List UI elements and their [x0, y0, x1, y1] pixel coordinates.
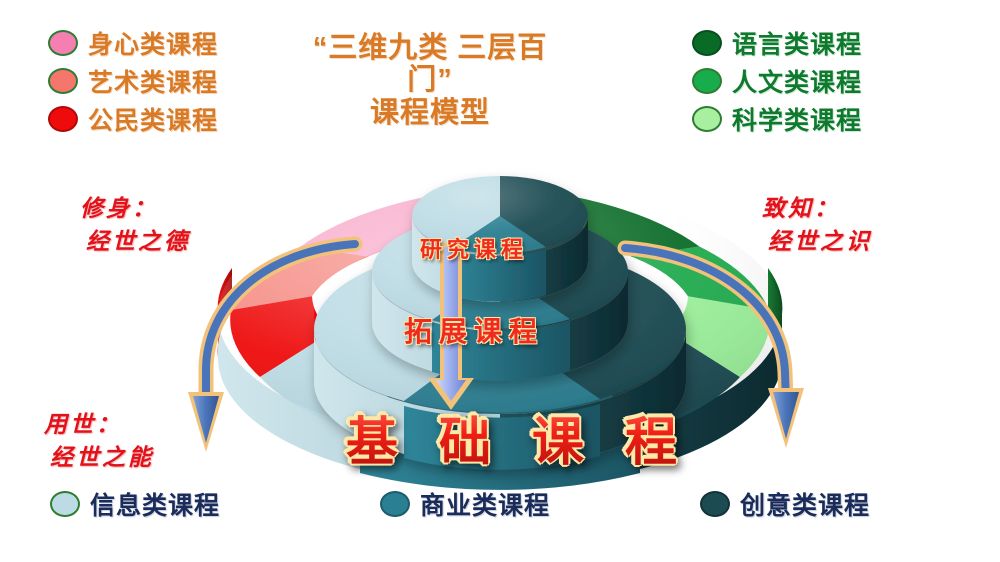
legend-dot-icon: [50, 491, 80, 517]
legend-label: 公民类课程: [88, 101, 218, 137]
legend-item-shenxin[interactable]: 身心类课程: [48, 24, 218, 62]
legend-left: 身心类课程 艺术类课程 公民类课程: [48, 24, 218, 138]
legend-label: 创意类课程: [740, 486, 870, 522]
tier-label-extension: 拓展课程: [404, 310, 544, 350]
note-line-2: 经世之德: [80, 225, 190, 258]
legend-label: 人文类课程: [732, 63, 862, 99]
page-title: “三维九类 三层百门” 课程模型: [290, 32, 570, 129]
note-line-2: 经世之识: [762, 225, 872, 258]
legend-item-shangye[interactable]: 商业类课程: [380, 486, 550, 522]
legend-dot-icon: [48, 106, 78, 132]
legend-dot-icon: [692, 30, 722, 56]
note-zhizhi: 致知： 经世之识: [762, 192, 872, 259]
legend-item-kexue[interactable]: 科学类课程: [692, 100, 862, 138]
tier-label-foundation: 基 础 课 程: [346, 400, 691, 475]
note-xiushen: 修身： 经世之德: [80, 192, 190, 259]
legend-dot-icon: [700, 491, 730, 517]
legend-item-chuangyi[interactable]: 创意类课程: [700, 486, 870, 522]
legend-label: 商业类课程: [420, 486, 550, 522]
note-line-1: 修身：: [80, 196, 158, 221]
legend-dot-icon: [692, 106, 722, 132]
tier-label-research: 研究课程: [420, 232, 528, 264]
legend-item-renwen[interactable]: 人文类课程: [692, 62, 862, 100]
legend-dot-icon: [48, 68, 78, 94]
legend-label: 科学类课程: [732, 101, 862, 137]
legend-right: 语言类课程 人文类课程 科学类课程: [692, 24, 862, 138]
legend-item-gongmin[interactable]: 公民类课程: [48, 100, 218, 138]
note-line-1: 致知：: [762, 196, 840, 221]
diagram-canvas: “三维九类 三层百门” 课程模型 身心类课程 艺术类课程 公民类课程 语言类课程…: [0, 0, 1000, 562]
title-line-1: “三维九类 三层百门”: [313, 32, 548, 96]
note-yongshi: 用世： 经世之能: [44, 408, 154, 475]
legend-label: 身心类课程: [88, 25, 218, 61]
legend-dot-icon: [380, 491, 410, 517]
legend-dot-icon: [692, 68, 722, 94]
legend-item-yishu[interactable]: 艺术类课程: [48, 62, 218, 100]
legend-item-xinxi[interactable]: 信息类课程: [50, 486, 220, 522]
note-line-1: 用世：: [44, 412, 122, 437]
legend-label: 信息类课程: [90, 486, 220, 522]
legend-label: 艺术类课程: [88, 63, 218, 99]
legend-item-yuyan[interactable]: 语言类课程: [692, 24, 862, 62]
note-line-2: 经世之能: [44, 441, 154, 474]
legend-dot-icon: [48, 30, 78, 56]
legend-label: 语言类课程: [732, 25, 862, 61]
title-line-2: 课程模型: [290, 97, 570, 129]
